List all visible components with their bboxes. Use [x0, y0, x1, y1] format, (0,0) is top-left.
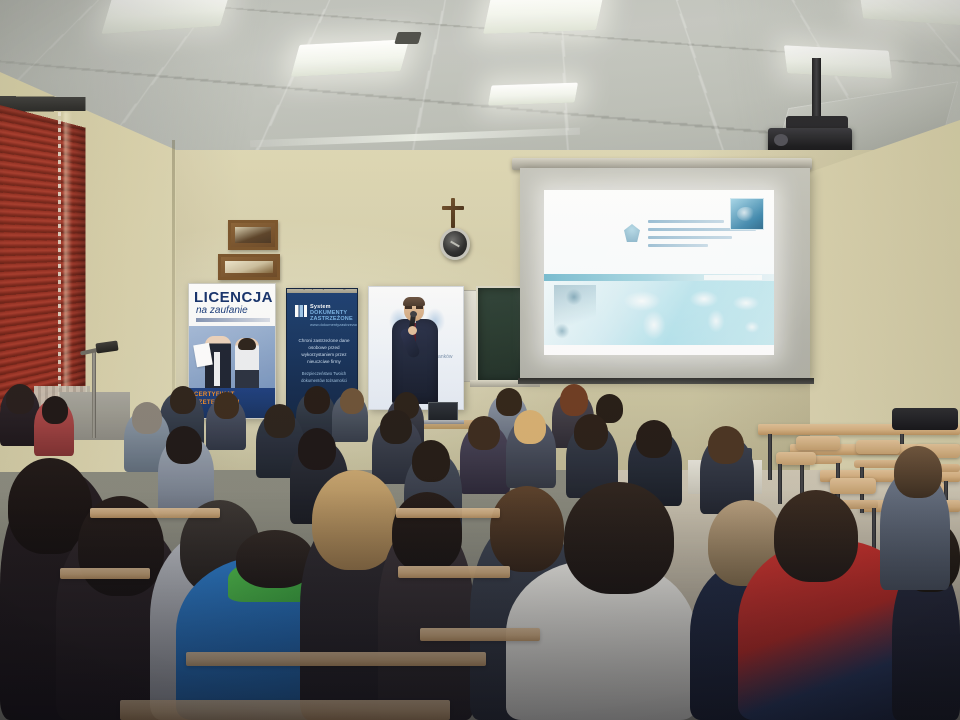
wall-clock-icon: [440, 228, 470, 260]
framed-plaque-upper: [228, 220, 278, 250]
slide-person-silhouette-small: [550, 321, 576, 343]
banner-blue-body: Chroni zastrzeżone dane osobowe przed wy…: [295, 337, 353, 365]
world-map-graphic: [620, 285, 770, 341]
slide-photo-thumbnail: [730, 198, 764, 230]
classroom-presentation-photo: LICENCJA na zaufanie CERTYFIKAT RZETELNO…: [0, 0, 960, 720]
banner-person-woman: [235, 338, 259, 390]
audience-head: [496, 388, 522, 416]
window-blinds: [0, 104, 85, 434]
empty-chair-back: [796, 436, 840, 450]
audience-head: [298, 428, 336, 470]
classroom-desk: [120, 700, 450, 720]
ceiling-light-panel: [483, 0, 605, 34]
projection-screen-weight-bar: [518, 378, 814, 384]
banner-licencja-photo: [189, 326, 276, 394]
ceiling-vent: [394, 32, 421, 44]
audience-head: [214, 392, 239, 419]
audience-head: [708, 426, 744, 464]
draped-jacket: [892, 408, 958, 430]
slide-footer-strip: [544, 345, 774, 355]
audience-head: [574, 414, 608, 450]
banner-blue-logo-icon: [295, 305, 307, 317]
classroom-desk: [396, 508, 500, 518]
classroom-desk: [398, 566, 510, 578]
audience-head: [636, 420, 672, 458]
audience-head: [774, 490, 858, 582]
slide-header-area: [544, 190, 774, 274]
audience-head: [560, 384, 588, 416]
window-light-gap: [64, 112, 72, 412]
slide-logo-icon: [624, 224, 640, 242]
laptop-screen: [428, 402, 458, 422]
framed-plaque-lower: [218, 254, 280, 280]
crucifix-crossbar-icon: [442, 206, 464, 210]
projector-mount-pole: [812, 58, 821, 120]
banner-licencja-title: LICENCJA: [194, 290, 274, 305]
projection-screen: [520, 168, 810, 380]
audience-head: [412, 440, 450, 482]
audience-head: [42, 396, 68, 424]
presenter-hair: [403, 297, 425, 306]
classroom-desk: [90, 508, 220, 518]
classroom-desk: [60, 568, 150, 579]
audience-head: [6, 384, 34, 414]
audience-head: [340, 388, 364, 414]
banner-licencja-microtext: [196, 318, 270, 322]
audience-head: [264, 404, 295, 438]
laptop-keyboard: [424, 420, 464, 424]
audience-head: [514, 410, 546, 444]
audience-head: [490, 486, 564, 572]
floor-lamp-pole: [92, 352, 96, 438]
audience-head: [894, 446, 942, 498]
audience-head: [564, 482, 674, 594]
audience-head: [380, 410, 412, 444]
classroom-desk: [186, 652, 486, 666]
eyeglasses-icon: [405, 306, 423, 309]
banner-blue-body-secondary: Bezpieczeństwo Twoich dokumentów tożsamo…: [297, 371, 351, 384]
projector-lens-icon: [774, 134, 788, 146]
chair-leg: [778, 464, 782, 504]
slide-divider-tab: [704, 275, 762, 280]
presenter: [384, 298, 442, 404]
empty-chair-back: [856, 440, 900, 454]
presentation-slide: [544, 190, 774, 355]
slide-graphic-area: [544, 281, 774, 345]
audience-head: [392, 492, 462, 572]
banner-blue-topbar-text: Krajowy Rejestr Długów: [291, 288, 357, 292]
audience-head: [166, 426, 202, 464]
audience-head: [170, 386, 196, 414]
audience-head: [468, 416, 500, 450]
classroom-desk: [420, 628, 540, 641]
audience-head-blonde: [312, 470, 398, 570]
empty-chair-back: [776, 452, 816, 465]
banner-licencja-subtitle: na zaufanie: [196, 306, 274, 316]
audience-head: [132, 402, 162, 434]
desk-leg: [768, 434, 772, 480]
empty-chair-back: [830, 478, 876, 494]
blinds-pull-cord: [58, 112, 61, 412]
banner-blue-title: System DOKUMENTY ZASTRZEŻONE: [310, 304, 356, 322]
ceiling-light-panel: [488, 83, 578, 106]
audience-head: [304, 386, 330, 414]
banner-blue-url: www.dokumentyzastrzezone.pl: [310, 322, 356, 327]
presenter-hand: [408, 326, 417, 335]
crucifix-icon: [451, 198, 455, 228]
